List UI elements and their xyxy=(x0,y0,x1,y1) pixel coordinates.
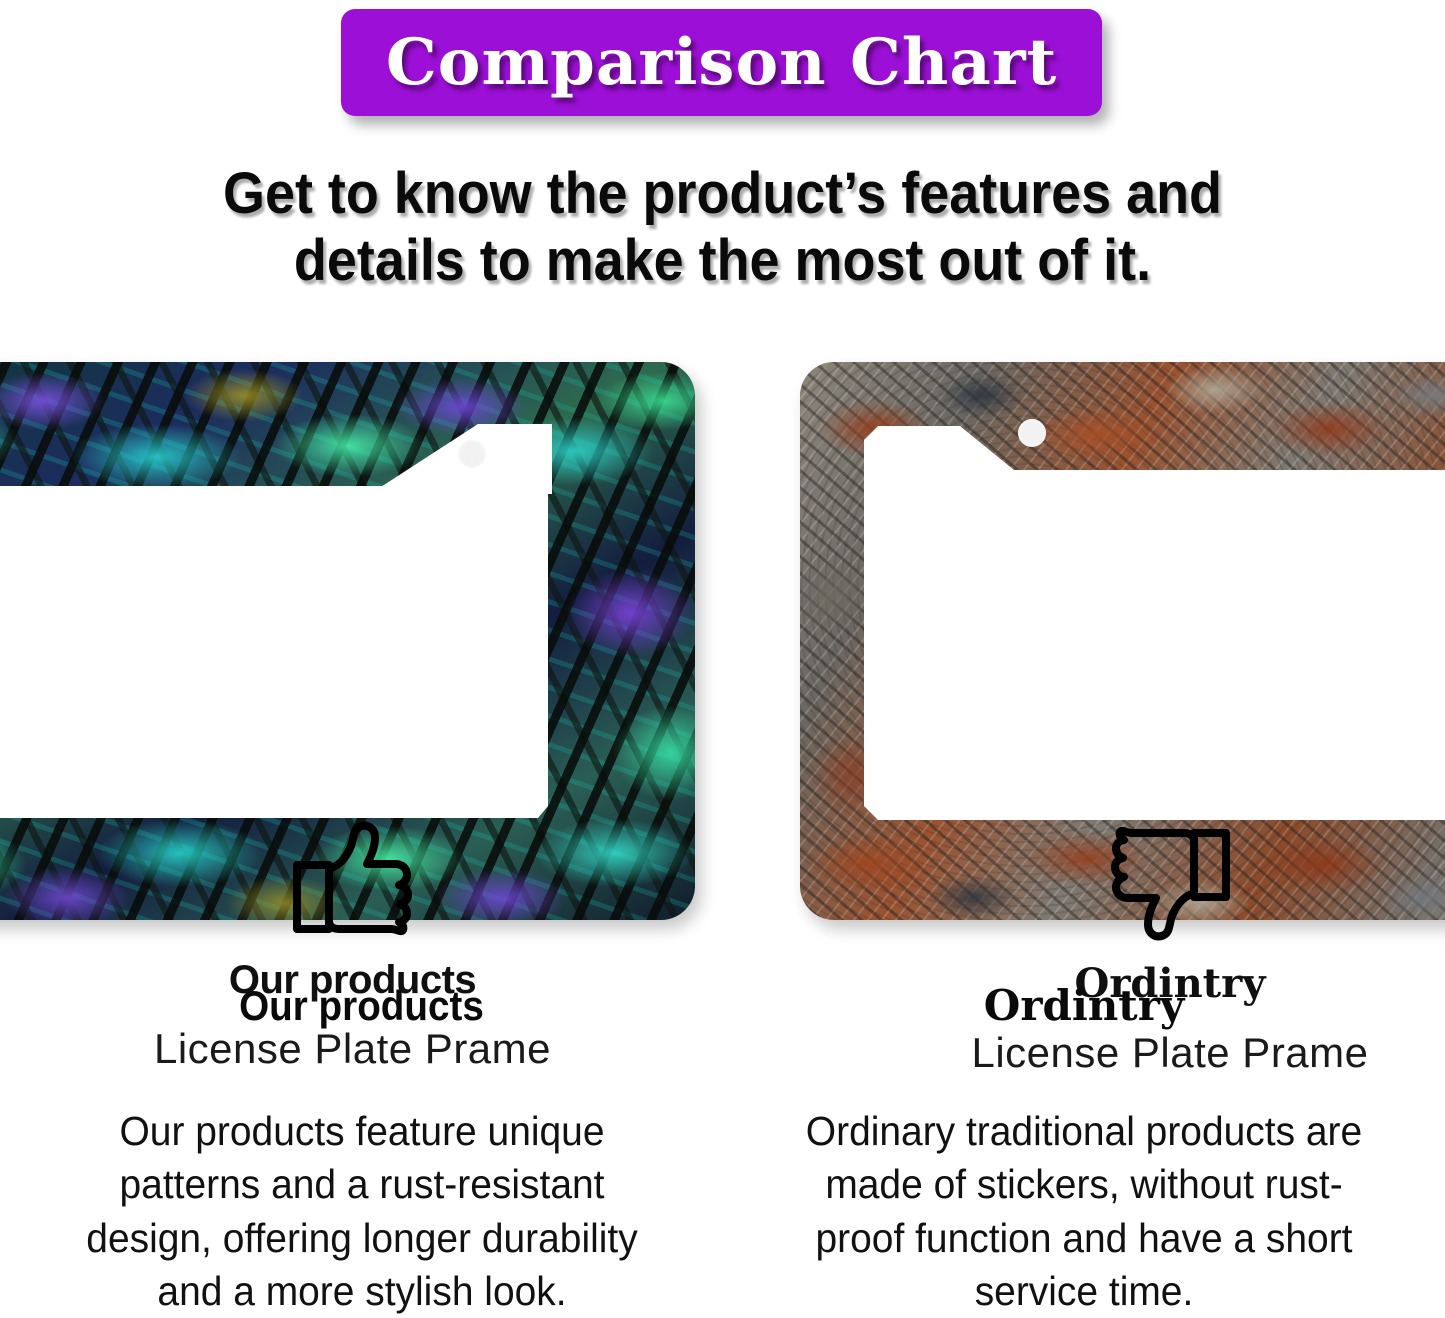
column-heading-left: Our products xyxy=(29,985,694,1027)
plate-aperture-right xyxy=(864,424,1445,822)
mounting-hole-icon xyxy=(1018,419,1046,447)
header-area: Comparison Chart xyxy=(0,0,1445,132)
description-column-left: Our products Our products feature unique… xyxy=(0,985,723,1318)
plate-aperture-left xyxy=(0,484,552,820)
comparison-descriptions: Our products Our products feature unique… xyxy=(0,985,1445,1314)
subtitle-text: Get to know the product’s features and d… xyxy=(134,160,1310,295)
title-banner: Comparison Chart xyxy=(341,9,1102,116)
description-column-right: Ordintry Ordinary traditional products a… xyxy=(723,985,1445,1318)
thumbs-up-icon xyxy=(291,820,415,938)
column-body-left: Our products feature unique patterns and… xyxy=(58,1105,666,1318)
column-heading-right: Ordintry xyxy=(723,985,1445,1027)
page-title: Comparison Chart xyxy=(341,31,1102,95)
column-body-right: Ordinary traditional products are made o… xyxy=(790,1105,1379,1318)
mounting-hole-icon xyxy=(458,440,486,468)
product-images-area: Our products License Plate Prame Ordintr… xyxy=(0,340,1445,950)
thumbs-down-icon xyxy=(1108,824,1232,942)
